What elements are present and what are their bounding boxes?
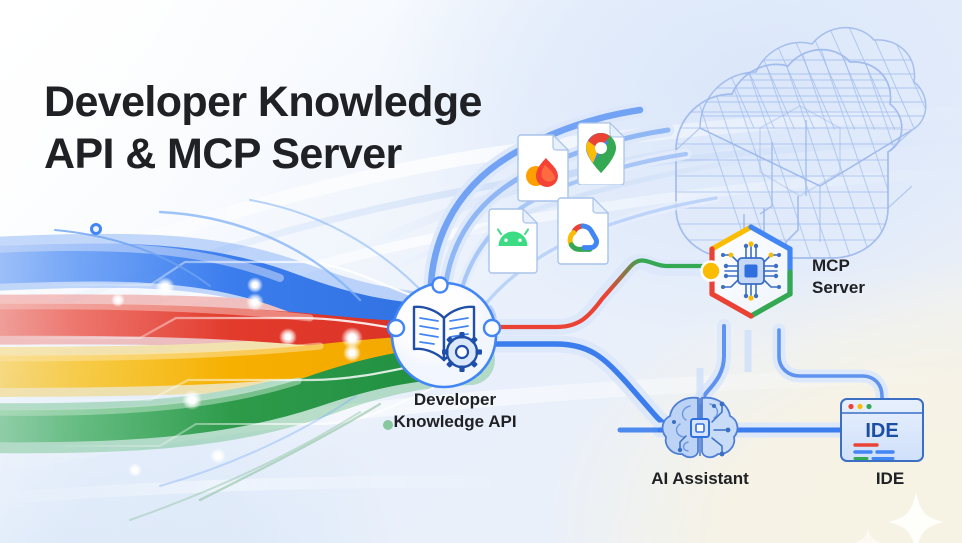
- illustration-canvas: IDE Developer Knowledge API & MCP Server…: [0, 0, 962, 543]
- label-ide: IDE: [822, 468, 958, 490]
- label-mcp-server: MCP Server: [812, 255, 942, 300]
- label-developer-knowledge-api: Developer Knowledge API: [335, 389, 575, 434]
- page-title: Developer Knowledge API & MCP Server: [44, 76, 482, 181]
- label-ai-assistant: AI Assistant: [620, 468, 780, 490]
